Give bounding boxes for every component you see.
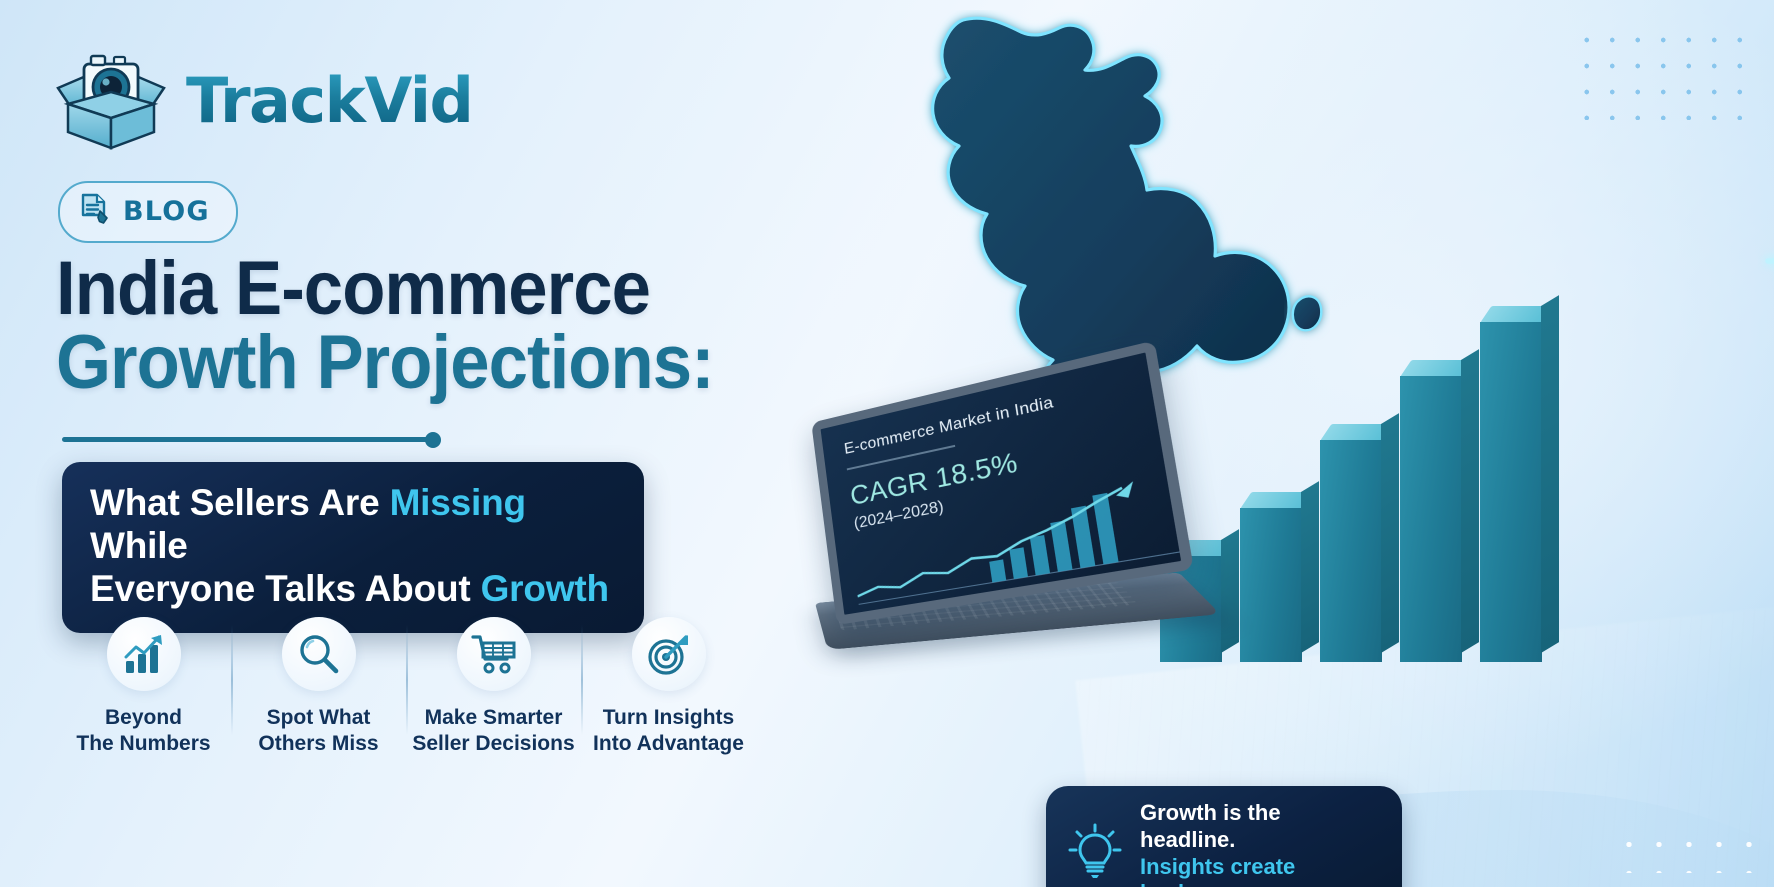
bar-chart-bar-3	[1320, 424, 1382, 662]
footer-banner-line1: Growth is the headline.	[1140, 800, 1376, 854]
footer-banner-line2: Insights create leaders.	[1140, 854, 1376, 887]
bar-chart-bar-5	[1480, 306, 1542, 662]
subtitle-line2: Everyone Talks About Growth	[90, 568, 620, 611]
feature-list: BeyondThe Numbers Spot WhatOthers Miss	[56, 617, 756, 758]
feature-item-turn-insights-into-advantage[interactable]: Turn InsightsInto Advantage	[581, 617, 756, 758]
page-title: India E-commerce Growth Projections:	[56, 252, 800, 399]
magnifier-icon	[282, 617, 356, 691]
bar-chart-bar-2	[1240, 492, 1302, 662]
growth-chart-icon	[107, 617, 181, 691]
footer-banner-text: Growth is the headline. Insights create …	[1140, 800, 1376, 887]
feature-item-beyond-the-numbers[interactable]: BeyondThe Numbers	[56, 617, 231, 758]
subtitle-highlight-growth: Growth	[481, 568, 609, 609]
blog-banner: TrackVid BLOG India E-commerce Gro	[0, 0, 1774, 887]
blog-badge[interactable]: BLOG	[58, 181, 238, 243]
footer-banner: Growth is the headline. Insights create …	[1046, 786, 1402, 887]
feature-label: Turn InsightsInto Advantage	[593, 705, 744, 758]
hero-illustration: What Sellers Are Missing E-commerce Mark…	[790, 0, 1774, 887]
page-title-line2: Growth Projections:	[56, 326, 800, 400]
feature-label: BeyondThe Numbers	[76, 705, 210, 758]
subtitle-panel: What Sellers Are Missing While Everyone …	[62, 462, 644, 633]
camera-in-box-icon	[52, 48, 170, 152]
title-divider	[62, 437, 432, 442]
lightbulb-icon	[1068, 823, 1122, 884]
shopping-cart-glow-icon	[1758, 245, 1774, 355]
subtitle-line1: What Sellers Are Missing While	[90, 482, 620, 568]
laptop-mockup: E-commerce Market in India CAGR 18.5% (2…	[815, 415, 1205, 705]
subtitle-highlight-missing: Missing	[390, 482, 526, 523]
feature-item-spot-what-others-miss[interactable]: Spot WhatOthers Miss	[231, 617, 406, 758]
shopping-cart-icon	[457, 617, 531, 691]
document-edit-icon	[80, 193, 110, 230]
page-title-line1: India E-commerce	[56, 252, 800, 326]
target-arrow-icon	[632, 617, 706, 691]
bar-chart-bar-4	[1400, 360, 1462, 662]
feature-label: Make SmarterSeller Decisions	[412, 705, 574, 758]
brand-logo-row[interactable]: TrackVid	[52, 48, 472, 152]
blog-badge-label: BLOG	[123, 196, 210, 227]
feature-label: Spot WhatOthers Miss	[258, 705, 378, 758]
left-content-column: TrackVid BLOG India E-commerce Gro	[0, 0, 880, 887]
feature-item-make-smarter-seller-decisions[interactable]: Make SmarterSeller Decisions	[406, 617, 581, 758]
brand-name: TrackVid	[186, 64, 472, 137]
